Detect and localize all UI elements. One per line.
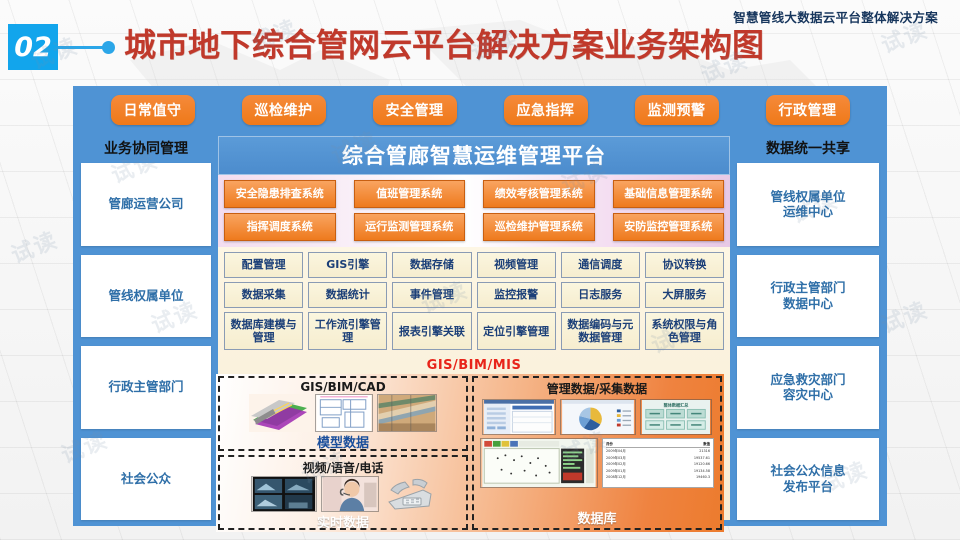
quadrant-realtime-data: 视频/语音/电话 [218,455,468,530]
systems-row-1: 安全隐患排查系统 值班管理系统 绩效考核管理系统 基础信息管理系统 [224,180,724,208]
realtime-thumbnails [220,476,466,512]
cctv-wall-icon [251,476,317,512]
capability-cell-2-0[interactable]: 数据库建模与管理 [224,312,303,350]
desk-phone-icon [383,476,435,512]
data-panel-right-column: 管理数据/采集数据 [470,374,724,532]
quadrant-realtime-footer: 实时数据 [317,512,369,530]
pipeline-3d-icon [249,394,311,432]
system-box-2[interactable]: 绩效考核管理系统 [483,180,595,208]
mini-table-col-0: 月份 [606,441,613,447]
right-item-0-line2: 运维中心 [783,204,833,219]
capability-cell-1-2[interactable]: 事件管理 [392,282,471,308]
system-box-6[interactable]: 巡检维护管理系统 [483,213,595,241]
quadrant-model-data: GIS/BIM/CAD [218,376,468,451]
capability-cell-0-1[interactable]: GIS引擎 [308,252,387,278]
scenario-item-1[interactable]: 巡检维护 [242,95,326,125]
system-box-3[interactable]: 基础信息管理系统 [613,180,725,208]
capability-cell-2-1[interactable]: 工作流引擎管理 [308,312,387,350]
left-column-item-0[interactable]: 管廊运营公司 [81,163,211,246]
dashboard-panel-screenshot: 整体数据汇总 [640,399,712,435]
quadrant-management-data: 管理数据/采集数据 [472,376,722,530]
model-thumbnails [220,394,466,432]
business-scenario-bar: 日常值守 巡检维护 安全管理 应急指挥 监测预警 行政管理 [73,86,887,134]
form-app-screenshot [482,399,556,435]
capability-cell-0-5[interactable]: 协议转换 [645,252,724,278]
management-thumbnails-row2: 月份 数值 2009年04月21316 2009年03月19537.61 200… [474,438,720,488]
badge-connector-line [58,46,106,49]
scenario-item-0[interactable]: 日常值守 [111,95,195,125]
scenario-item-3[interactable]: 应急指挥 [504,95,588,125]
capability-cell-0-3[interactable]: 视频管理 [477,252,556,278]
quadrant-realtime-title: 视频/语音/电话 [303,459,384,476]
capability-cell-2-5[interactable]: 系统权限与角色管理 [645,312,724,350]
call-operator-icon [321,476,379,512]
svg-text:整体数据汇总: 整体数据汇总 [663,402,690,408]
scenario-item-5[interactable]: 行政管理 [766,95,850,125]
capability-cell-1-5[interactable]: 大屏服务 [645,282,724,308]
capability-cell-1-3[interactable]: 监控报警 [477,282,556,308]
capability-cell-0-4[interactable]: 通信调度 [561,252,640,278]
cad-floorplan-icon [315,394,373,432]
right-column-item-1[interactable]: 行政主管部门 数据中心 [737,255,879,338]
right-column-heading: 数据统一共享 [737,136,879,163]
title-row: 02 城市地下综合管网云平台解决方案业务架构图 [0,24,960,72]
right-column-item-3[interactable]: 社会公众信息 发布平台 [737,438,879,521]
capability-cell-1-1[interactable]: 数据统计 [308,282,387,308]
capability-cell-0-0[interactable]: 配置管理 [224,252,303,278]
capability-row-1: 数据采集 数据统计 事件管理 监控报警 日志服务 大屏服务 [224,282,724,308]
data-source-panel: GIS/BIM/CAD [216,374,724,532]
left-column-heading: 业务协同管理 [81,136,211,163]
capability-cell-2-4[interactable]: 数据编码与元数据管理 [561,312,640,350]
right-item-2-line2: 容灾中心 [783,387,833,402]
capability-cell-2-3[interactable]: 定位引擎管理 [477,312,556,350]
capability-cell-0-2[interactable]: 数据存储 [392,252,471,278]
pipe-photo-icon [377,394,437,432]
scada-monitor-screenshot [480,438,598,488]
right-item-3-line2: 发布平台 [783,479,833,494]
capability-cell-2-2[interactable]: 报表引擎关联 [392,312,471,350]
badge-connector-dot [102,41,115,54]
system-box-0[interactable]: 安全隐患排查系统 [224,180,336,208]
left-column-item-2[interactable]: 行政主管部门 [81,346,211,429]
scenario-item-4[interactable]: 监测预警 [635,95,719,125]
right-item-1-line1: 行政主管部门 [770,280,845,295]
right-column-item-2[interactable]: 应急救灾部门 容灾中心 [737,346,879,429]
left-column-item-3[interactable]: 社会公众 [81,438,211,521]
systems-band: 安全隐患排查系统 值班管理系统 绩效考核管理系统 基础信息管理系统 指挥调度系统… [218,175,730,247]
systems-row-2: 指挥调度系统 运行监测管理系统 巡检维护管理系统 安防监控管理系统 [224,213,724,241]
quadrant-model-title: GIS/BIM/CAD [300,380,385,394]
section-number-badge: 02 [8,24,58,70]
right-item-3-line1: 社会公众信息 [770,463,845,478]
page-title: 城市地下综合管网云平台解决方案业务架构图 [124,20,764,66]
data-table-screenshot: 月份 数值 2009年04月21316 2009年03月19537.61 200… [602,438,714,488]
mini-table-row-4: 2008年12月19460.3 [606,474,710,480]
capability-row-0: 配置管理 GIS引擎 数据存储 视频管理 通信调度 协议转换 [224,252,724,278]
right-item-1-line2: 数据中心 [783,296,833,311]
quadrant-management-title: 管理数据/采集数据 [547,380,647,397]
quadrant-management-footer: 数据库 [577,508,616,527]
system-box-5[interactable]: 运行监测管理系统 [354,213,466,241]
pie-chart-screenshot [560,399,636,435]
platform-title: 综合管廊智慧运维管理平台 [218,136,730,175]
system-box-7[interactable]: 安防监控管理系统 [613,213,725,241]
left-column: 业务协同管理 管廊运营公司 管线权属单位 行政主管部门 社会公众 [81,136,211,520]
capability-cell-1-4[interactable]: 日志服务 [561,282,640,308]
data-panel-left-column: GIS/BIM/CAD [216,374,470,532]
quadrant-model-footer: 模型数据 [317,432,369,451]
right-column-item-0[interactable]: 管线权属单位 运维中心 [737,163,879,246]
system-box-4[interactable]: 指挥调度系统 [224,213,336,241]
left-column-item-1[interactable]: 管线权属单位 [81,255,211,338]
right-item-2-line1: 应急救灾部门 [770,372,845,387]
capability-row-2: 数据库建模与管理 工作流引擎管理 报表引擎关联 定位引擎管理 数据编码与元数据管… [224,312,724,350]
management-thumbnails-row1: 整体数据汇总 [474,399,720,435]
system-box-1[interactable]: 值班管理系统 [354,180,466,208]
right-item-0-line1: 管线权属单位 [770,189,845,204]
right-column: 数据统一共享 管线权属单位 运维中心 行政主管部门 数据中心 应急救灾部门 容灾… [737,136,879,520]
mini-table-col-1: 数值 [703,441,710,447]
scenario-item-2[interactable]: 安全管理 [373,95,457,125]
capability-cell-1-0[interactable]: 数据采集 [224,282,303,308]
